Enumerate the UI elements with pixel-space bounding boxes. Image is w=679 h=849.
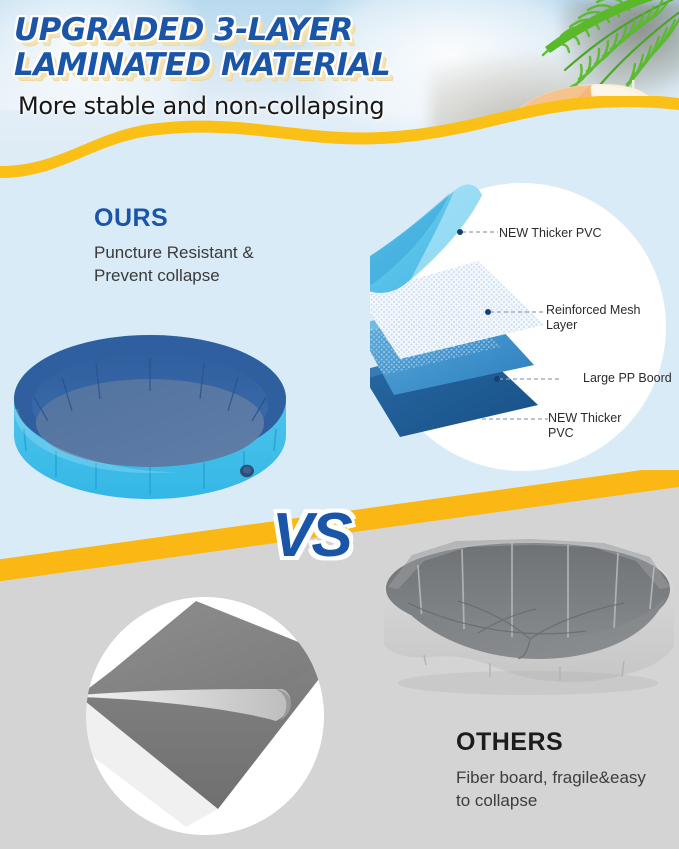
gray-collapsing-pool-icon — [378, 533, 678, 723]
page-title: UPGRADED 3-LAYER LAMINATED MATERIAL — [14, 13, 390, 82]
layer-label-mesh: Reinforced Mesh Layer — [546, 303, 666, 334]
layer-label-top-pvc: NEW Thicker PVC — [499, 226, 602, 241]
ours-heading: OURS — [94, 204, 168, 233]
gray-peeling-sheet-icon — [86, 597, 324, 835]
vs-badge: VS — [272, 500, 351, 571]
others-heading: OTHERS — [456, 728, 563, 757]
ours-description: Puncture Resistant & Prevent collapse — [94, 242, 309, 288]
others-description: Fiber board, fragile&easy to collapse — [456, 767, 646, 813]
blue-folding-pool-icon — [0, 325, 300, 515]
title-line-2: LAMINATED MATERIAL — [14, 48, 390, 83]
layer-label-bottom-pvc: NEW Thicker PVC — [548, 411, 648, 442]
title-line-1: UPGRADED 3-LAYER — [14, 13, 390, 48]
layer-label-pp-board: Large PP Boord — [583, 371, 678, 386]
page-subtitle: More stable and non-collapsing — [18, 92, 384, 120]
infographic-page: UPGRADED 3-LAYER LAMINATED MATERIAL More… — [0, 0, 679, 849]
